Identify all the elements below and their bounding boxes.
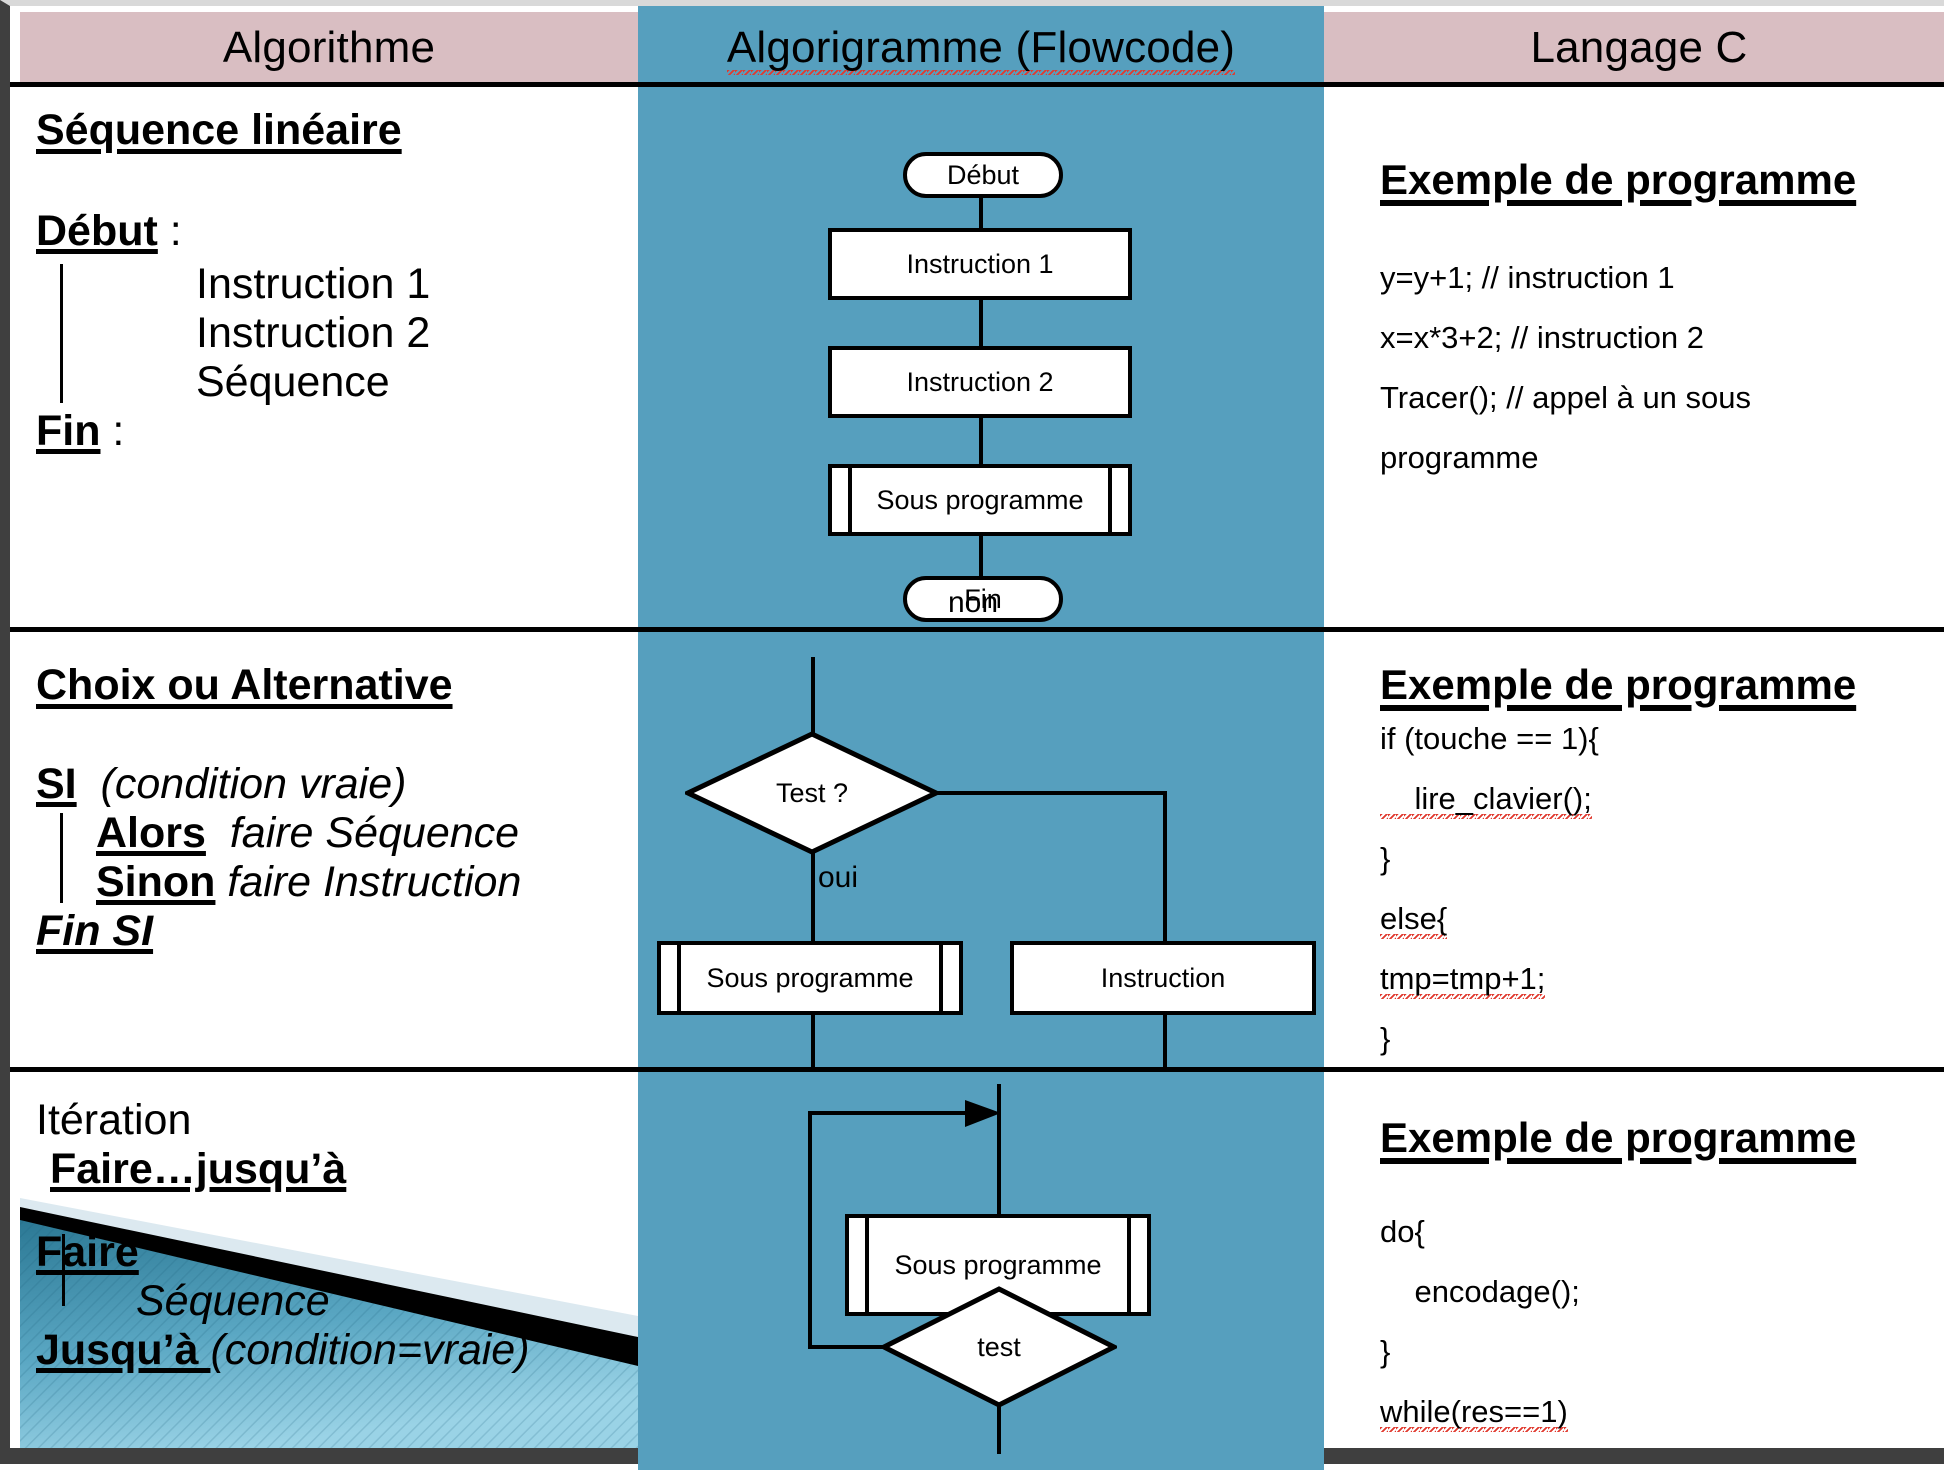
- row1-c-code-line: y=y+1; // instruction 1: [1380, 248, 1856, 308]
- flow-branch-label-oui: oui: [818, 861, 858, 895]
- langage-c-cell-row3: Exemple de programme do{ encodage(); } w…: [1380, 1114, 1856, 1442]
- flow-connector: [979, 416, 983, 466]
- row1-c-title: Exemple de programme: [1380, 156, 1856, 204]
- flow-process-instruction-1: Instruction 1: [828, 228, 1132, 300]
- slide-page: Algorithme Algorigramme (Flowcode) Langa…: [0, 0, 1944, 1464]
- flow-connector-out-left: [811, 1013, 815, 1067]
- flow-loop-top-horizontal: [808, 1111, 973, 1115]
- flow-terminator-debut: Début: [903, 152, 1063, 198]
- flow-branch-label-non: non: [948, 586, 998, 620]
- row2-algo-finsi: Fin SI: [36, 907, 521, 956]
- row2-algo-sinon: Sinon faire Instruction: [96, 858, 521, 907]
- flow-connector-bottom: [997, 1404, 1001, 1454]
- flow-subroutine-sous-programme: Sous programme: [828, 464, 1132, 536]
- flow-arrowhead: [965, 1098, 1003, 1135]
- algorithme-cell-row2: Choix ou Alternative SI (condition vraie…: [36, 661, 521, 956]
- row2-c-code-line: }: [1380, 1009, 1856, 1069]
- row3-c-code-line: do{: [1380, 1202, 1856, 1262]
- algorithme-cell-row3: Itération Faire…jusqu’à: [36, 1096, 346, 1194]
- row1-algo-fin: Fin :: [36, 407, 430, 456]
- row3-algo-jusqua: Jusqu’à (condition=vraie): [36, 1326, 530, 1375]
- flow-decision-label: Test ?: [685, 731, 939, 855]
- sequence-bracket-line: [60, 264, 63, 403]
- flow-connector: [979, 298, 983, 348]
- flow-decision-test: Test ?: [685, 731, 939, 855]
- flow-connector: [979, 534, 983, 578]
- algorithme-cell-row1: Séquence linéaire Début : Instruction 1 …: [36, 106, 430, 456]
- flow-process-instruction: Instruction: [1010, 941, 1316, 1015]
- row1-algo-debut: Début :: [36, 207, 430, 256]
- row1-c-code-line: programme: [1380, 428, 1856, 488]
- alternative-bracket-line: [60, 813, 63, 903]
- row2-algo-body: Alors faire Séquence Sinon faire Instruc…: [36, 809, 521, 907]
- row1-algo-body: Instruction 1 Instruction 2 Séquence: [36, 260, 430, 407]
- header-algorigramme: Algorigramme (Flowcode): [638, 12, 1324, 84]
- flow-connector-false-h: [935, 791, 1167, 795]
- langage-c-cell-row1: Exemple de programme y=y+1; // instructi…: [1380, 156, 1856, 488]
- row2-algo-title: Choix ou Alternative: [36, 661, 521, 710]
- row2-c-title: Exemple de programme: [1380, 661, 1856, 709]
- row1-algo-body-line: Séquence: [96, 358, 430, 407]
- langage-c-cell-row2: Exemple de programme if (touche == 1){ l…: [1380, 661, 1856, 1069]
- row1-algo-title: Séquence linéaire: [36, 106, 430, 155]
- row3-c-code-line: while(res==1): [1380, 1382, 1856, 1442]
- flow-subroutine-sous-programme: Sous programme: [657, 941, 963, 1015]
- row2-algo-alors: Alors faire Séquence: [96, 809, 521, 858]
- row2-c-code-line: }: [1380, 829, 1856, 889]
- flow-connector-out-right: [1163, 1013, 1167, 1067]
- algorithme-cell-row3-loop: Faire Séquence Jusqu’à (condition=vraie): [36, 1228, 530, 1375]
- flow-connector-into-sub: [997, 1182, 1001, 1216]
- flow-loop-vertical: [808, 1111, 812, 1349]
- header-algorithme: Algorithme: [20, 12, 638, 84]
- row1-c-code-line: x=x*3+2; // instruction 2: [1380, 308, 1856, 368]
- header-algorigramme-label: Algorigramme (Flowcode): [727, 23, 1235, 75]
- flow-decision-label: test: [881, 1286, 1117, 1408]
- flow-connector-true-v: [811, 851, 815, 947]
- flow-connector-false-v: [1163, 791, 1167, 943]
- row2-algo-si: SI (condition vraie): [36, 760, 521, 809]
- row3-algo-sequence: Séquence: [36, 1277, 530, 1326]
- row-divider-1: [10, 627, 1944, 632]
- flow-process-instruction-2: Instruction 2: [828, 346, 1132, 418]
- row3-c-title: Exemple de programme: [1380, 1114, 1856, 1162]
- flow-connector: [979, 194, 983, 230]
- flow-decision-test-loop: test: [881, 1286, 1117, 1408]
- header-divider: [10, 82, 1944, 87]
- row3-algo-kind: Itération: [36, 1096, 346, 1145]
- header-langage-c: Langage C: [1324, 12, 1944, 84]
- row3-algo-subtitle: Faire…jusqu’à: [36, 1145, 346, 1194]
- row2-c-code-line: if (touche == 1){: [1380, 709, 1856, 769]
- row3-c-code-line: encodage();: [1380, 1262, 1856, 1322]
- row1-c-code-line: Tracer(); // appel à un sous: [1380, 368, 1856, 428]
- loop-bracket-line: [62, 1234, 65, 1306]
- flow-connector-in: [811, 657, 815, 737]
- row1-algo-body-line: Instruction 1: [96, 260, 430, 309]
- row2-c-code-line: tmp=tmp+1;: [1380, 949, 1856, 1009]
- row2-c-code-line: else{: [1380, 889, 1856, 949]
- row3-c-code-line: }: [1380, 1322, 1856, 1382]
- row1-algo-body-line: Instruction 2: [96, 309, 430, 358]
- row2-c-code-line: lire_clavier();: [1380, 769, 1856, 829]
- row3-algo-faire: Faire: [36, 1228, 530, 1277]
